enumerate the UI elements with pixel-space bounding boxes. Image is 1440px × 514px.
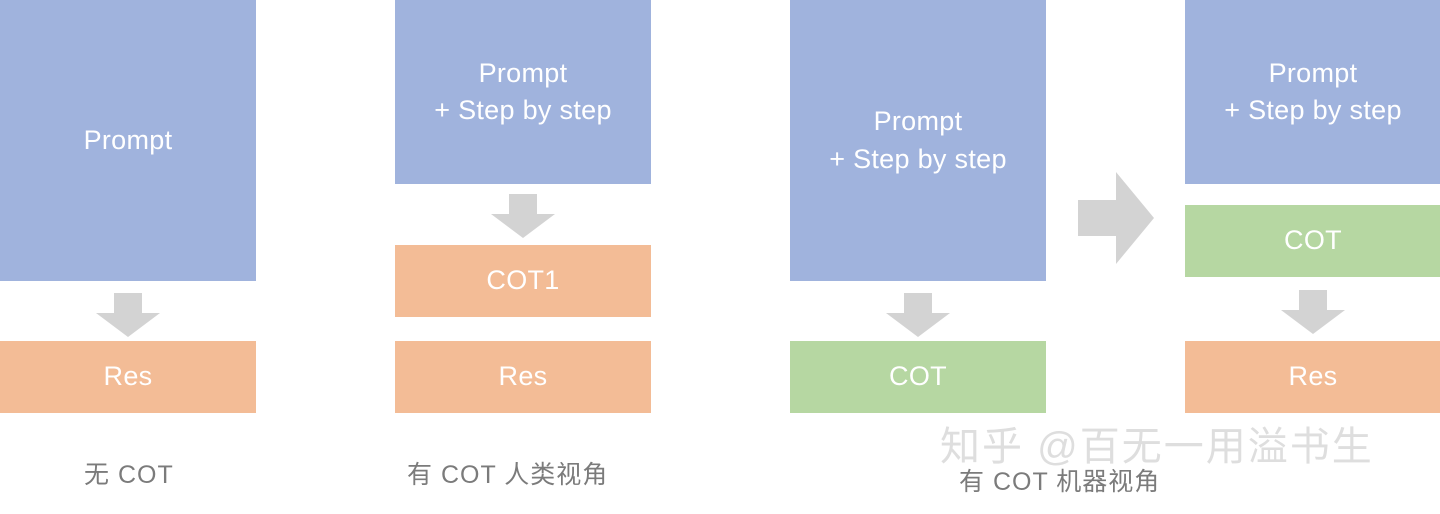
arrow-down-icon-col2 [483,194,563,238]
node-col1-res: Res [0,341,256,413]
node-col3-cot: COT [790,341,1046,413]
node-col2-prompt-step: Prompt + Step by step [395,0,651,184]
arrow-down-icon-col1 [88,293,168,337]
node-col1-prompt: Prompt [0,0,256,281]
arrow-right-icon-stage-transition [1078,172,1154,264]
node-col4-prompt-step: Prompt + Step by step [1185,0,1440,184]
caption-col3: 有 COT 机器视角 [959,470,1160,495]
arrow-down-icon-col4 [1273,290,1353,334]
diagram-canvas: Prompt Res 无 COT Prompt + Step by step C… [0,0,1440,514]
arrow-down-icon-col3 [878,293,958,337]
node-col2-cot1: COT1 [395,245,651,317]
node-col4-cot: COT [1185,205,1440,277]
node-col2-res: Res [395,341,651,413]
caption-col1: 无 COT [84,463,174,488]
node-col4-res: Res [1185,341,1440,413]
node-col3-prompt-step: Prompt + Step by step [790,0,1046,281]
caption-col2: 有 COT 人类视角 [407,463,608,488]
watermark-zhihu: 知乎 @百无一用溢书生 [940,427,1374,467]
